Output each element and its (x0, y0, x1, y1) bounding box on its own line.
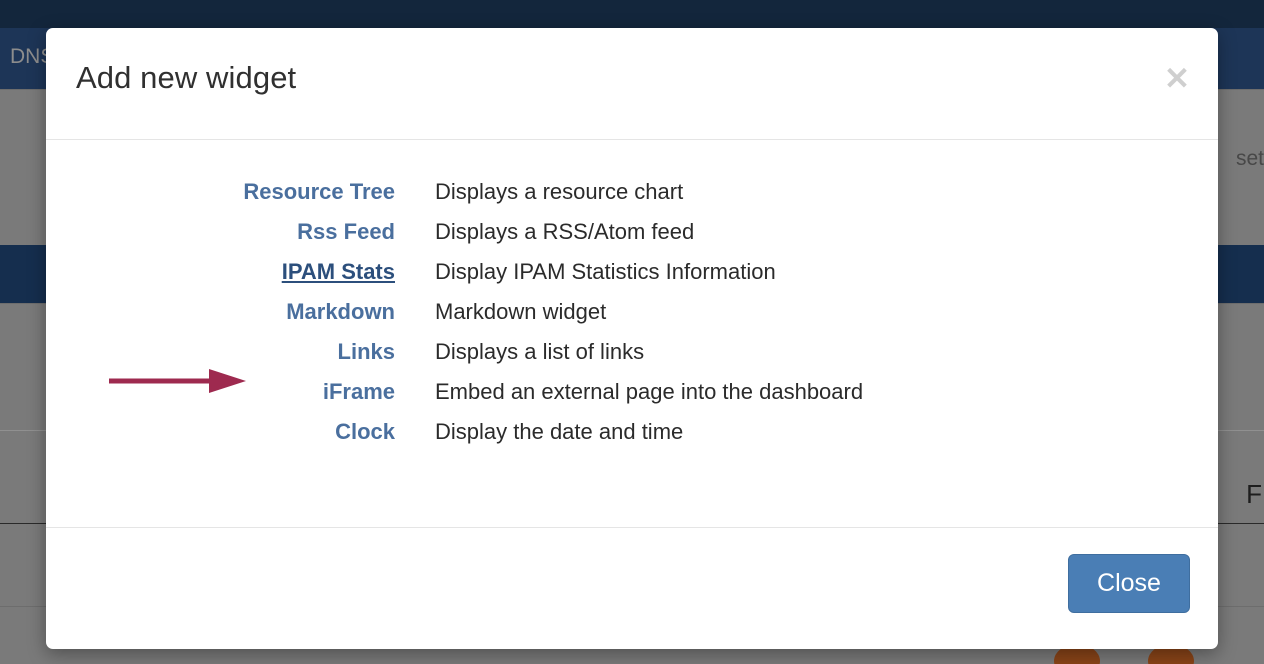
dialog-title: Add new widget (76, 60, 296, 96)
background-right-text: F (1246, 479, 1262, 510)
widget-link-resource-tree[interactable]: Resource Tree (243, 179, 395, 204)
widget-link-ipam-stats[interactable]: IPAM Stats (282, 259, 395, 284)
background-right-text: set (1236, 147, 1264, 171)
widget-description: Displays a RSS/Atom feed (395, 212, 1218, 252)
widget-row: IPAM StatsDisplay IPAM Statistics Inform… (46, 252, 1218, 292)
widget-row: iFrameEmbed an external page into the da… (46, 372, 1218, 412)
dialog-header: Add new widget ✕ (46, 28, 1218, 140)
close-button[interactable]: Close (1068, 554, 1190, 613)
background-left-text: ) (0, 440, 1, 463)
widget-row: LinksDisplays a list of links (46, 332, 1218, 372)
widget-list-table: Resource TreeDisplays a resource chartRs… (46, 172, 1218, 452)
widget-name-cell: iFrame (46, 372, 395, 412)
close-icon[interactable]: ✕ (1160, 62, 1194, 96)
widget-description: Markdown widget (395, 292, 1218, 332)
widget-description: Embed an external page into the dashboar… (395, 372, 1218, 412)
add-widget-dialog: Add new widget ✕ Resource TreeDisplays a… (46, 28, 1218, 649)
dialog-body: Resource TreeDisplays a resource chartRs… (46, 140, 1218, 527)
widget-link-iframe[interactable]: iFrame (323, 379, 395, 404)
widget-description: Displays a resource chart (395, 172, 1218, 212)
widget-link-clock[interactable]: Clock (335, 419, 395, 444)
widget-description: Display IPAM Statistics Information (395, 252, 1218, 292)
widget-name-cell: Clock (46, 412, 395, 452)
widget-link-links[interactable]: Links (338, 339, 395, 364)
background-top-strip (0, 0, 1264, 28)
widget-name-cell: Rss Feed (46, 212, 395, 252)
dialog-footer: Close (46, 527, 1218, 648)
widget-name-cell: Resource Tree (46, 172, 395, 212)
widget-link-markdown[interactable]: Markdown (286, 299, 395, 324)
widget-description: Displays a list of links (395, 332, 1218, 372)
widget-row: Rss FeedDisplays a RSS/Atom feed (46, 212, 1218, 252)
widget-name-cell: IPAM Stats (46, 252, 395, 292)
widget-row: ClockDisplay the date and time (46, 412, 1218, 452)
widget-row: MarkdownMarkdown widget (46, 292, 1218, 332)
widget-row: Resource TreeDisplays a resource chart (46, 172, 1218, 212)
widget-link-rss-feed[interactable]: Rss Feed (297, 219, 395, 244)
widget-name-cell: Markdown (46, 292, 395, 332)
widget-description: Display the date and time (395, 412, 1218, 452)
widget-name-cell: Links (46, 332, 395, 372)
